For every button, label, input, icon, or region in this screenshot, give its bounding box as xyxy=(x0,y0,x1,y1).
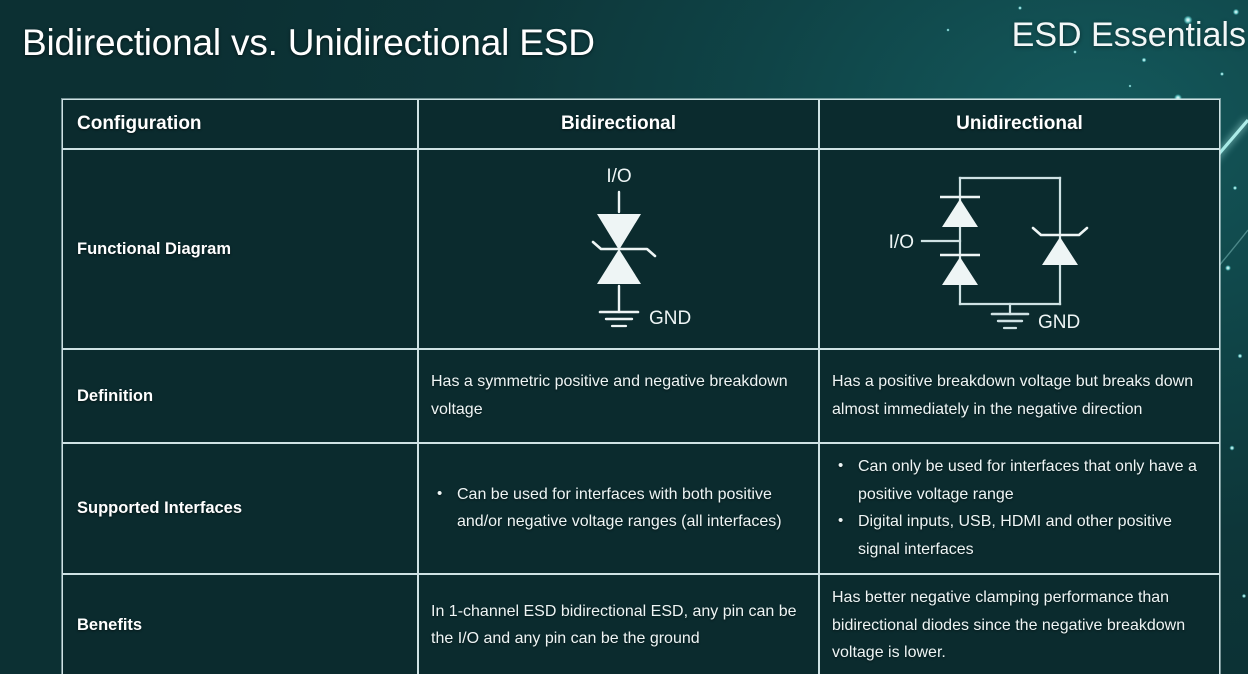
bullet-list-bidirectional: Can be used for interfaces with both pos… xyxy=(431,481,806,536)
table-header-row: Configuration Bidirectional Unidirection… xyxy=(62,99,1220,149)
unidirectional-gnd-label: GND xyxy=(1038,312,1080,333)
supported-interfaces-bidirectional: Can be used for interfaces with both pos… xyxy=(418,443,819,574)
unidirectional-diagram-cell: I/O GND xyxy=(819,149,1220,349)
esd-comparison-table: Configuration Bidirectional Unidirection… xyxy=(62,99,1220,674)
unidirectional-diode-array-icon: I/O GND xyxy=(870,154,1170,344)
table-row-definition: Definition Has a symmetric positive and … xyxy=(62,349,1220,443)
bidirectional-io-label: I/O xyxy=(606,166,631,187)
table-row-functional-diagram: Functional Diagram xyxy=(62,149,1220,349)
supported-interfaces-unidirectional: Can only be used for interfaces that onl… xyxy=(819,443,1220,574)
column-header-bidirectional: Bidirectional xyxy=(418,99,819,149)
row-label-functional-diagram: Functional Diagram xyxy=(62,149,418,349)
row-label-supported-interfaces: Supported Interfaces xyxy=(62,443,418,574)
deck-label: ESD Essentials xyxy=(1012,16,1246,55)
table-row-supported-interfaces: Supported Interfaces Can be used for int… xyxy=(62,443,1220,574)
definition-unidirectional: Has a positive breakdown voltage but bre… xyxy=(819,349,1220,443)
list-item: Digital inputs, USB, HDMI and other posi… xyxy=(832,508,1207,563)
row-label-benefits: Benefits xyxy=(62,574,418,674)
benefits-unidirectional: Has better negative clamping performance… xyxy=(819,574,1220,674)
list-item: Can only be used for interfaces that onl… xyxy=(832,453,1207,508)
page-title: Bidirectional vs. Unidirectional ESD xyxy=(22,22,595,64)
benefits-bidirectional: In 1-channel ESD bidirectional ESD, any … xyxy=(418,574,819,674)
column-header-unidirectional: Unidirectional xyxy=(819,99,1220,149)
table-row-benefits: Benefits In 1-channel ESD bidirectional … xyxy=(62,574,1220,674)
bullet-list-unidirectional: Can only be used for interfaces that onl… xyxy=(832,453,1207,563)
unidirectional-io-label: I/O xyxy=(888,232,913,253)
bidirectional-tvs-diode-icon: I/O GND xyxy=(499,154,739,344)
column-header-configuration: Configuration xyxy=(62,99,418,149)
definition-bidirectional: Has a symmetric positive and negative br… xyxy=(418,349,819,443)
bidirectional-diagram-cell: I/O GND xyxy=(418,149,819,349)
bidirectional-gnd-label: GND xyxy=(649,308,691,329)
list-item: Can be used for interfaces with both pos… xyxy=(431,481,806,536)
row-label-definition: Definition xyxy=(62,349,418,443)
